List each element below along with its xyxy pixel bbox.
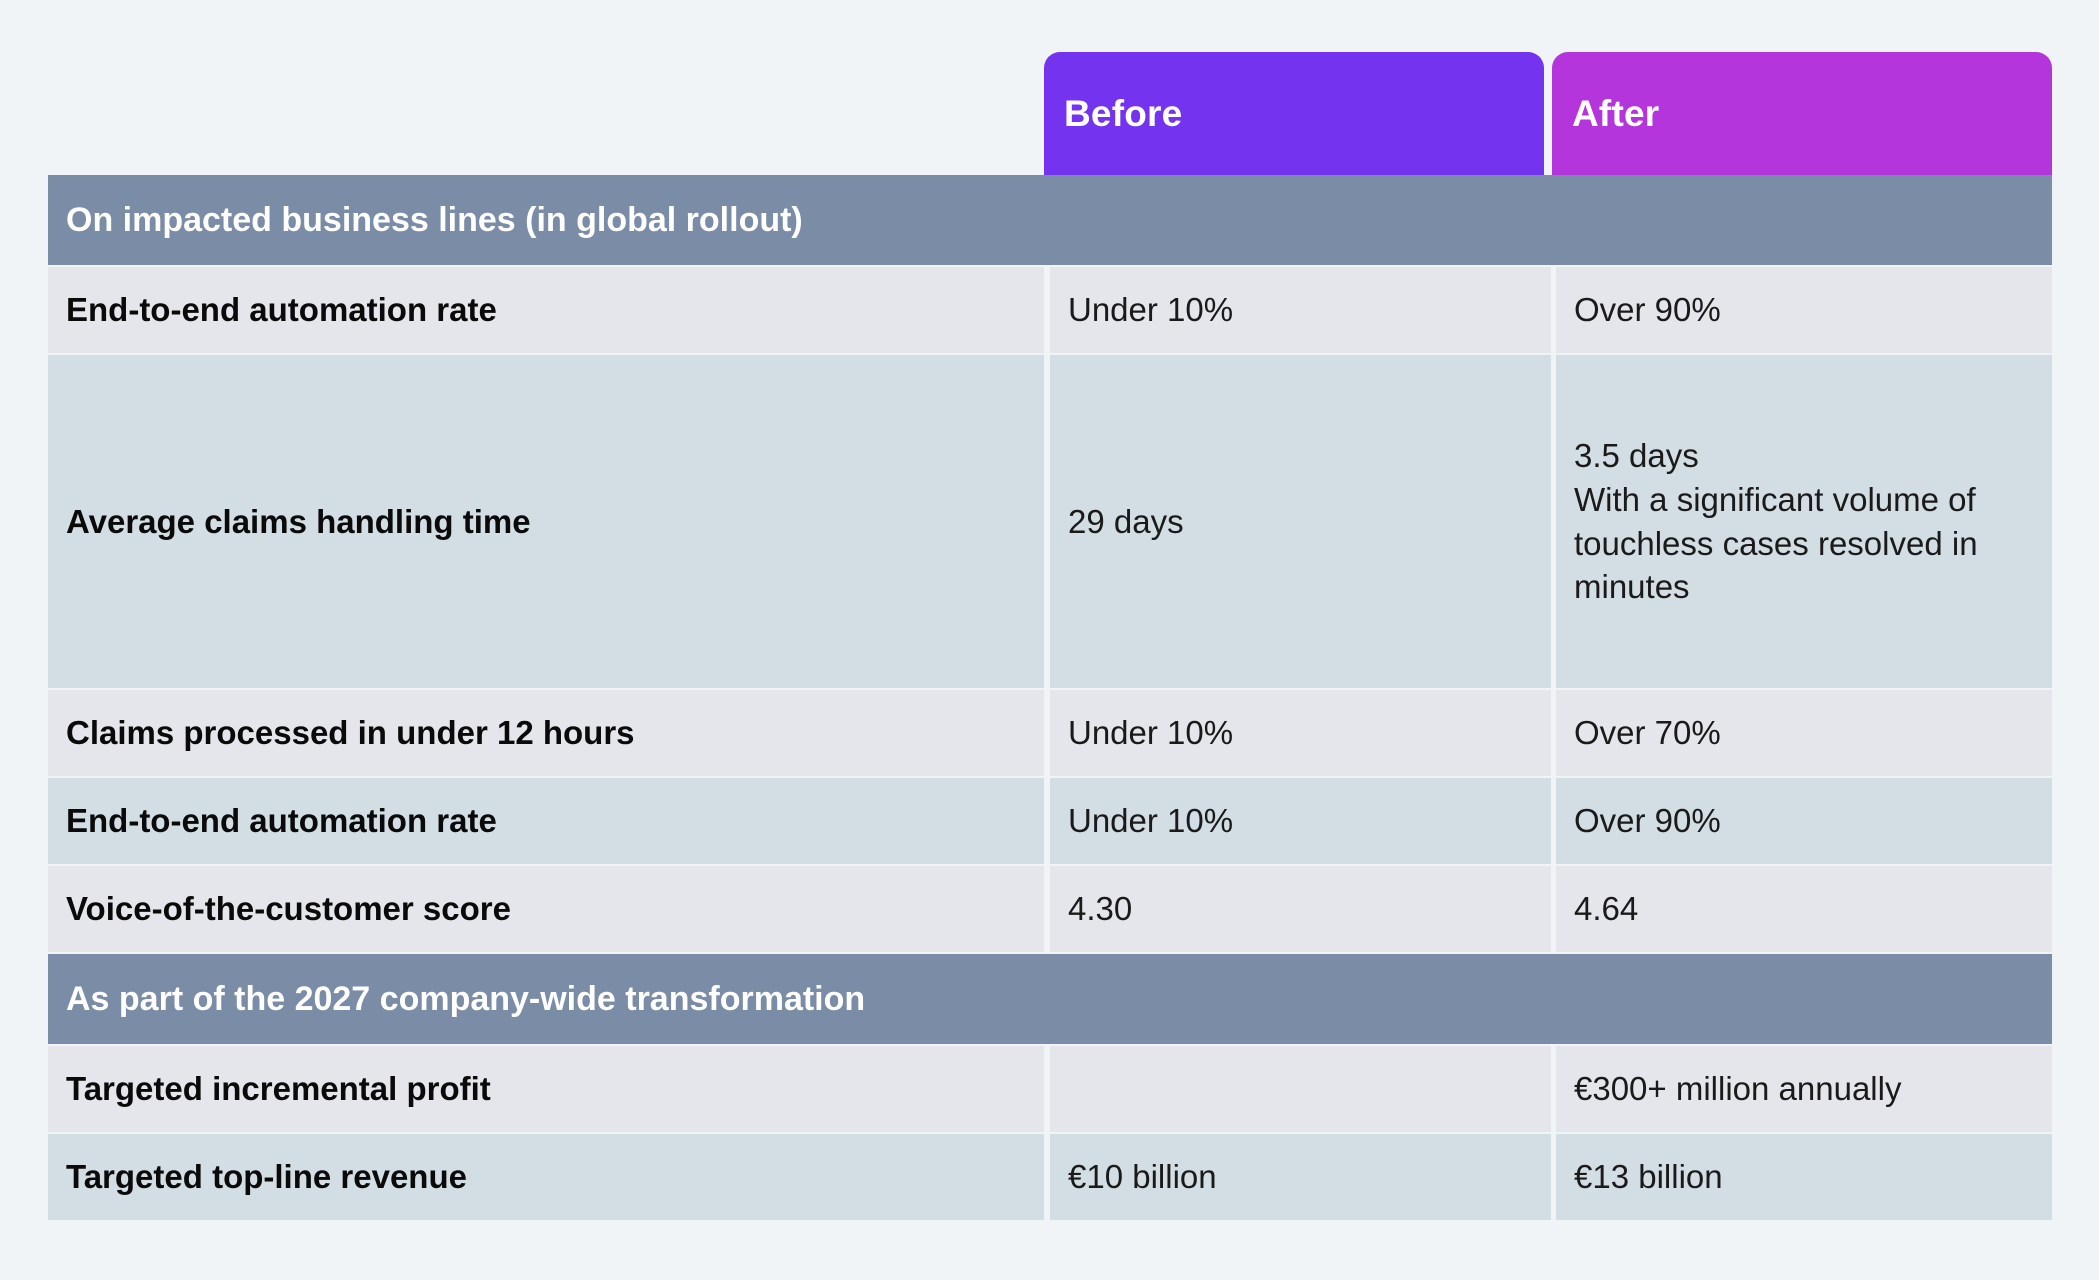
comparison-table-page: Before After On impacted business lines … xyxy=(0,0,2099,1280)
row-before-value: €10 billion xyxy=(1050,1134,1551,1220)
table-row: Targeted top-line revenue €10 billion €1… xyxy=(48,1134,2052,1220)
row-after-value: Over 90% xyxy=(1556,778,2052,864)
section-header-row: As part of the 2027 company-wide transfo… xyxy=(48,954,2052,1044)
section-title: As part of the 2027 company-wide transfo… xyxy=(48,954,2052,1044)
column-header-band: Before After xyxy=(48,52,2052,175)
comparison-table: On impacted business lines (in global ro… xyxy=(48,175,2052,1222)
column-header-after-label: After xyxy=(1572,95,1659,132)
row-after-value: €13 billion xyxy=(1556,1134,2052,1220)
row-label: Voice-of-the-customer score xyxy=(48,866,1044,952)
row-before-value: 4.30 xyxy=(1050,866,1551,952)
table-row: End-to-end automation rate Under 10% Ove… xyxy=(48,778,2052,864)
table-row: Average claims handling time 29 days 3.5… xyxy=(48,355,2052,688)
row-after-value: Over 90% xyxy=(1556,267,2052,353)
row-label: Targeted incremental profit xyxy=(48,1046,1044,1132)
row-before-value: Under 10% xyxy=(1050,690,1551,776)
column-header-before-label: Before xyxy=(1064,95,1182,132)
table-row: End-to-end automation rate Under 10% Ove… xyxy=(48,267,2052,353)
row-before-value: Under 10% xyxy=(1050,267,1551,353)
row-label: End-to-end automation rate xyxy=(48,267,1044,353)
column-header-before: Before xyxy=(1044,52,1544,175)
row-before-value xyxy=(1050,1046,1551,1132)
table-row: Voice-of-the-customer score 4.30 4.64 xyxy=(48,866,2052,952)
column-header-after: After xyxy=(1552,52,2052,175)
section-header-row: On impacted business lines (in global ro… xyxy=(48,175,2052,265)
row-before-value: 29 days xyxy=(1050,355,1551,688)
section-title: On impacted business lines (in global ro… xyxy=(48,175,2052,265)
metric-column-header-spacer xyxy=(48,52,1044,175)
row-label: Targeted top-line revenue xyxy=(48,1134,1044,1220)
row-after-value: 4.64 xyxy=(1556,866,2052,952)
row-before-value: Under 10% xyxy=(1050,778,1551,864)
row-label: End-to-end automation rate xyxy=(48,778,1044,864)
table-row: Claims processed in under 12 hours Under… xyxy=(48,690,2052,776)
row-after-value: €300+ million annually xyxy=(1556,1046,2052,1132)
table-row: Targeted incremental profit €300+ millio… xyxy=(48,1046,2052,1132)
row-after-value: Over 70% xyxy=(1556,690,2052,776)
row-label: Average claims handling time xyxy=(48,355,1044,688)
row-label: Claims processed in under 12 hours xyxy=(48,690,1044,776)
row-after-value: 3.5 days With a significant volume of to… xyxy=(1556,355,2052,688)
